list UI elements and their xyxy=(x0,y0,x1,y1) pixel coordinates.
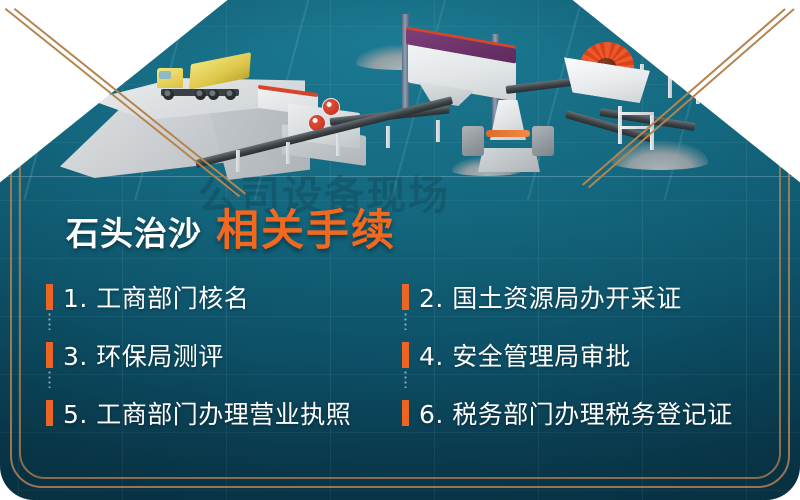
page-title: 石头治沙 相关手续 xyxy=(66,196,396,258)
bullet-marker-icon xyxy=(46,342,53,368)
bullet-marker-icon xyxy=(402,284,409,310)
list-item: 5. 工商部门办理营业执照 xyxy=(46,384,402,442)
list-item: 2. 国土资源局办开采证 xyxy=(402,268,762,326)
list-item: 1. 工商部门核名 xyxy=(46,268,402,326)
bullet-marker-icon xyxy=(402,342,409,368)
title-highlight: 相关手续 xyxy=(216,196,396,258)
list-item-label: 2. 国土资源局办开采证 xyxy=(419,279,682,315)
bullet-marker-icon xyxy=(46,400,53,426)
infographic-poster: 公司设备现场 石头治沙 相关手续 1. 工商部门核名 2. 国土资源局办开采证 … xyxy=(0,0,800,500)
list-item-label: 5. 工商部门办理营业执照 xyxy=(63,395,351,431)
list-item-label: 4. 安全管理局审批 xyxy=(419,337,631,373)
list-item: 4. 安全管理局审批 xyxy=(402,326,762,384)
title-primary: 石头治沙 xyxy=(66,207,202,255)
list-item-label: 1. 工商部门核名 xyxy=(63,279,249,315)
bullet-marker-icon xyxy=(46,284,53,310)
list-item-label: 3. 环保局测评 xyxy=(63,337,224,373)
procedure-list: 1. 工商部门核名 2. 国土资源局办开采证 3. 环保局测评 4. 安全管理局… xyxy=(46,268,762,442)
bullet-marker-icon xyxy=(402,400,409,426)
list-item-label: 6. 税务部门办理税务登记证 xyxy=(419,395,733,431)
list-item: 3. 环保局测评 xyxy=(46,326,402,384)
list-item: 6. 税务部门办理税务登记证 xyxy=(402,384,762,442)
